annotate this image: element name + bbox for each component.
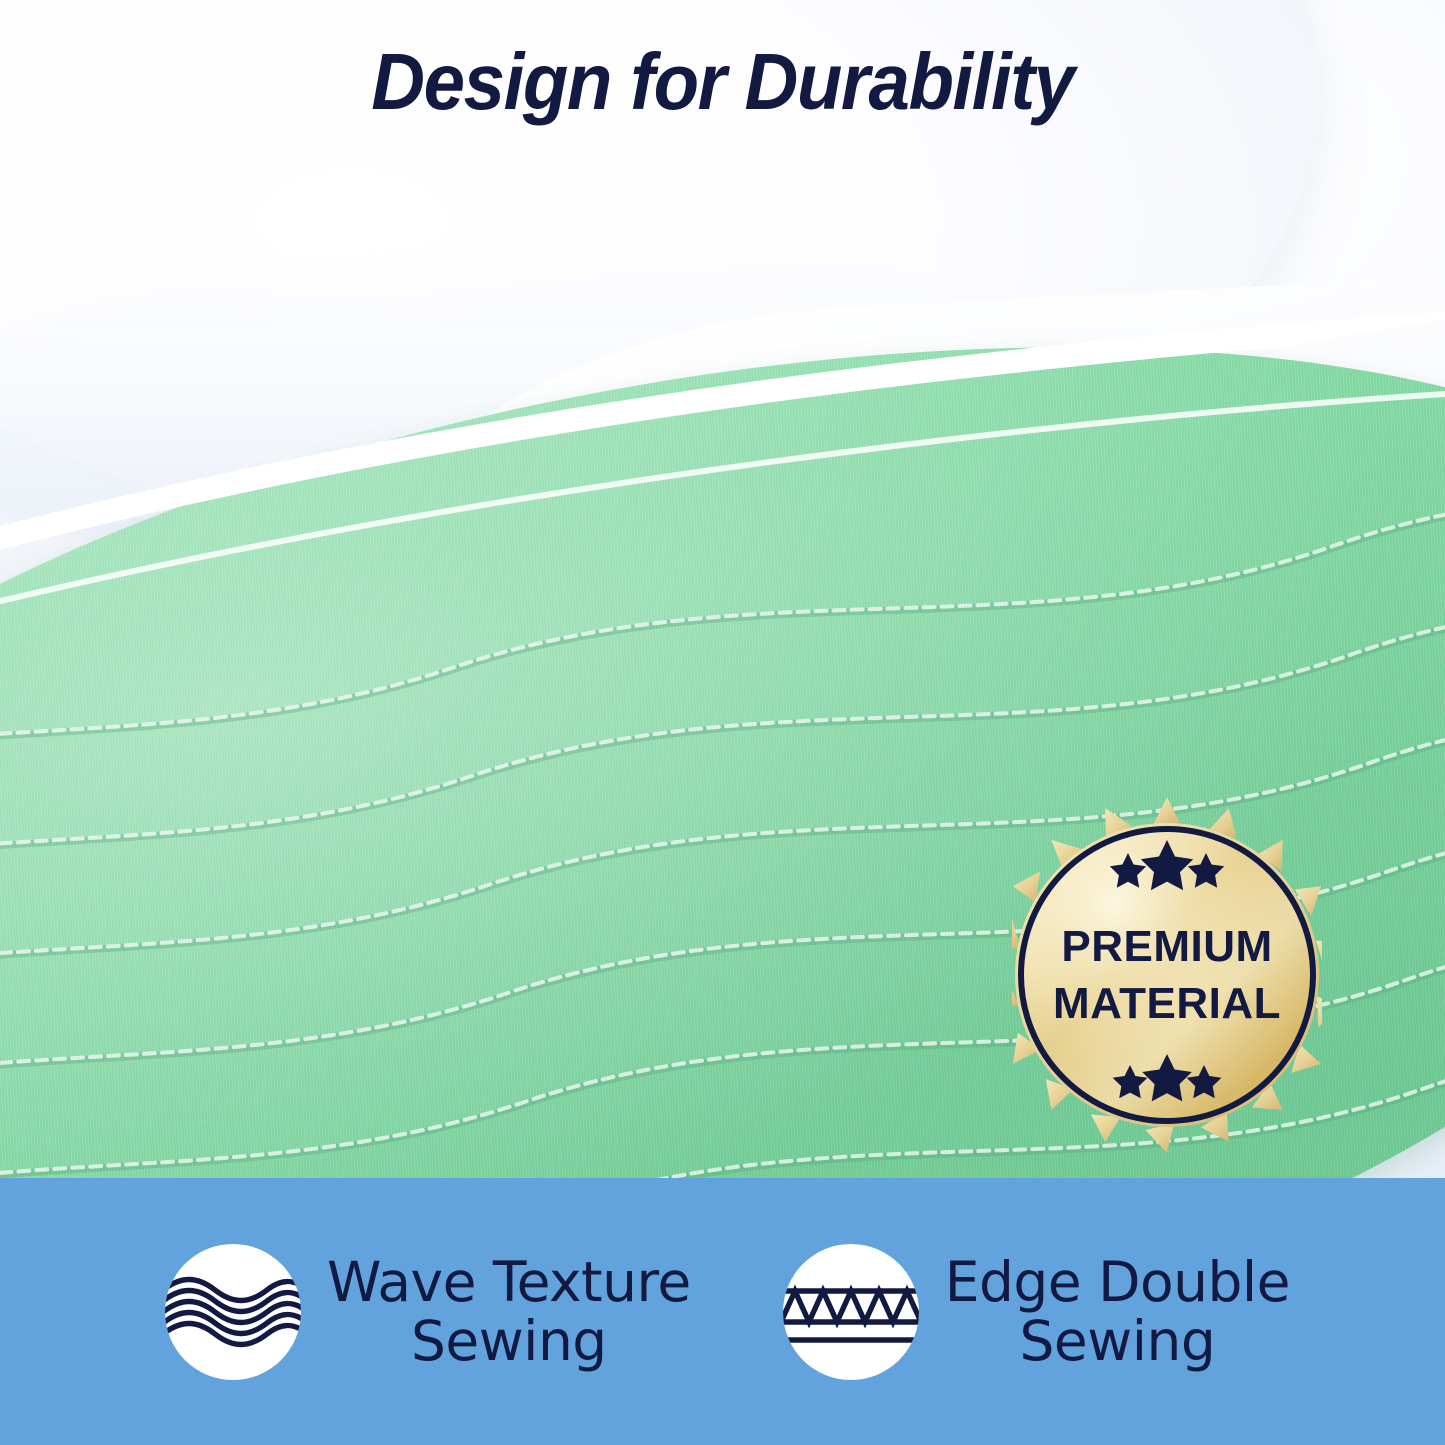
zigzag-stitch-icon: [783, 1244, 919, 1380]
feature-label-edge-double-sewing: Edge Double Sewing: [945, 1253, 1290, 1370]
wave-lines-icon: [165, 1244, 301, 1380]
badge-line1: PREMIUM: [1061, 922, 1272, 971]
feature-label-wave-texture-sewing: Wave Texture Sewing: [327, 1253, 691, 1370]
badge-line2: MATERIAL: [1053, 979, 1281, 1028]
feature-edge-double-sewing: Edge Double Sewing: [783, 1244, 1290, 1380]
product-photo: PREMIUM MATERIAL Design for Durability: [0, 0, 1445, 1185]
premium-material-badge: PREMIUM MATERIAL: [1012, 796, 1322, 1154]
feature-band: Wave Texture Sewing Edge Double Sewing: [0, 1178, 1445, 1445]
page-title: Design for Durability: [51, 42, 1395, 122]
feature-wave-texture-sewing: Wave Texture Sewing: [165, 1244, 691, 1380]
marketing-image-canvas: PREMIUM MATERIAL Design for Durability: [0, 0, 1445, 1445]
